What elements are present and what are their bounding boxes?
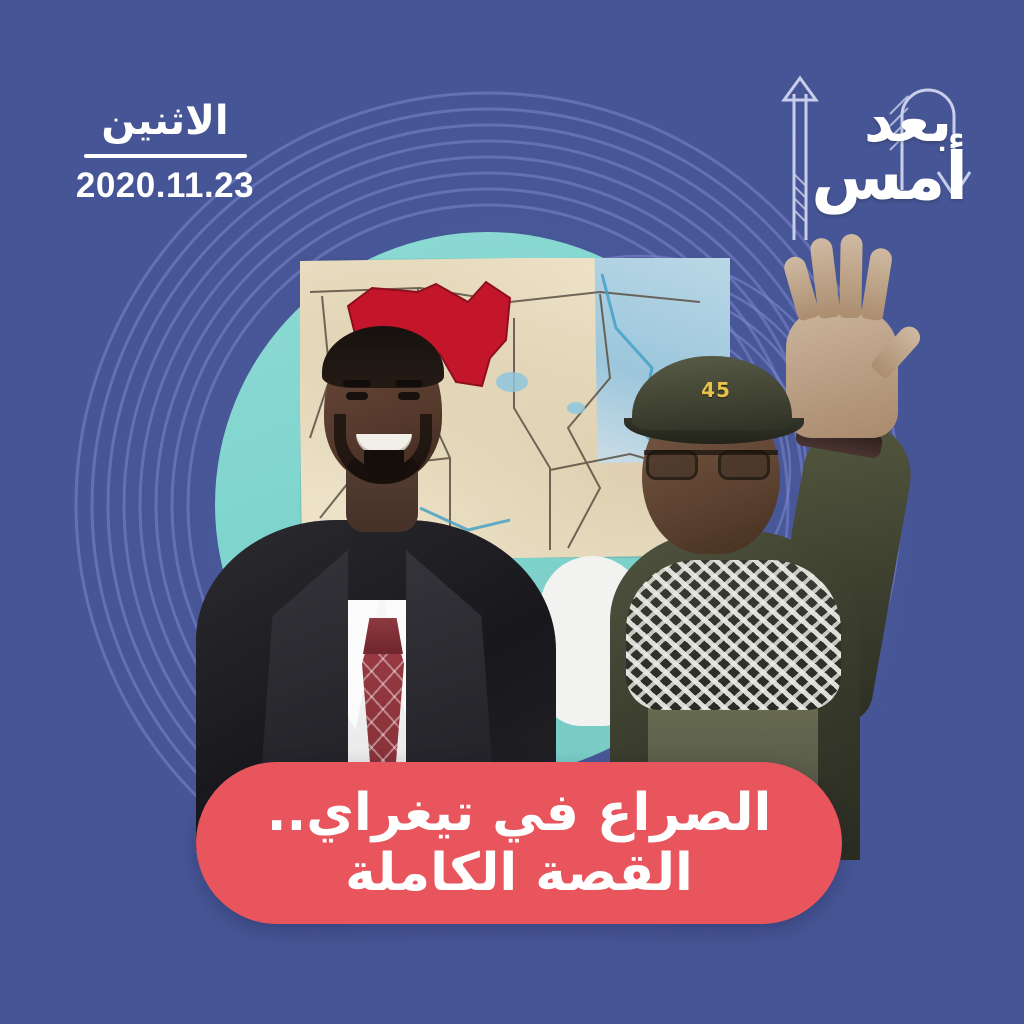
headline-banner[interactable]: الصراع في تيغراي.. القصة الكاملة [196,762,842,924]
patterned-scarf [626,560,841,710]
date-label: 2020.11.23 [70,166,260,206]
necktie-knot [363,618,403,654]
headline-line-2: القصة الكاملة [196,845,842,901]
date-block: الاثنين 2020.11.23 [70,100,260,206]
brand-logo[interactable]: بعد أمس [772,70,982,240]
eye-left [346,392,368,400]
sunglasses-bridge [644,450,778,480]
logo-line-2: أمس [811,144,968,210]
eyebrow-right [395,380,423,387]
finger [839,234,862,318]
weekday-label: الاثنين [70,100,260,142]
cap-badge: 45 [694,368,738,412]
eye-right [398,392,420,400]
date-divider [84,154,247,158]
finger [861,247,894,322]
news-card: 45 الاثنين 2020.11.23 [0,0,1024,1024]
eyebrow-left [343,380,371,387]
headline-line-1: الصراع في تيغراي.. [196,785,842,841]
hair [322,326,444,388]
